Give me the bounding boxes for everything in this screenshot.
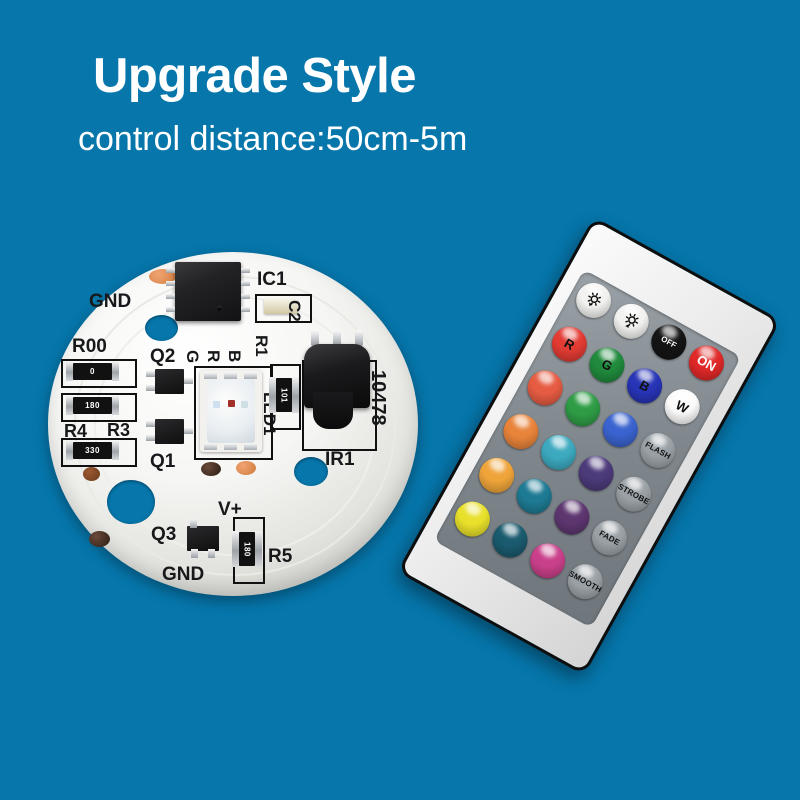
silkscreen-ic1: IC1 <box>257 270 287 289</box>
led1-rgb-emitter <box>200 370 262 452</box>
remote-key-label: FLASH <box>644 440 673 461</box>
ic-pin <box>166 268 175 273</box>
silkscreen-gnd-bottom: GND <box>162 565 204 584</box>
led-pad <box>204 443 217 450</box>
led-pad <box>244 443 257 450</box>
solder-pad <box>83 467 100 481</box>
silkscreen-led-pin-r: R <box>205 350 222 362</box>
remote-key-brightness-down[interactable] <box>607 298 655 346</box>
sot-leg <box>146 371 155 377</box>
ic-pin1-marker <box>217 306 222 311</box>
ic-pin <box>166 294 175 299</box>
resistor-r5: 180 <box>239 532 255 566</box>
brightness-up-icon <box>582 289 605 312</box>
sot-leg <box>184 378 193 384</box>
pcb-board-marking: 10478 <box>368 370 388 426</box>
sot-leg <box>146 435 155 441</box>
remote-key-label: W <box>673 397 691 416</box>
silkscreen-r00: R00 <box>72 337 107 356</box>
solder-pad <box>236 461 256 475</box>
sot-leg <box>208 549 215 558</box>
solder-pad <box>201 462 221 476</box>
ic1-chip <box>175 262 241 321</box>
silkscreen-q3: Q3 <box>151 525 176 544</box>
led-lens <box>207 379 255 443</box>
led-pad <box>224 372 237 379</box>
mounting-hole <box>294 457 328 486</box>
remote-key-label: B <box>637 377 652 395</box>
remote-key-color-2-2[interactable] <box>597 406 645 454</box>
silkscreen-gnd-top: GND <box>89 292 131 311</box>
ic-pin <box>241 294 250 299</box>
sot-leg <box>184 428 193 434</box>
led-pad <box>204 372 217 379</box>
silkscreen-c2: C2 <box>286 300 303 322</box>
led-pad <box>224 443 237 450</box>
remote-key-fade[interactable]: FADE <box>586 514 634 562</box>
silkscreen-r3: R3 <box>107 421 130 439</box>
remote-key-strobe[interactable]: STROBE <box>610 470 658 518</box>
remote-key-w[interactable]: W <box>658 383 706 431</box>
silkscreen-led-pin-b: B <box>226 350 243 362</box>
sot-leg <box>190 519 197 528</box>
ir-lens <box>313 392 353 429</box>
remote-key-color-5-1[interactable] <box>486 516 534 564</box>
remote-key-label: STROBE <box>616 482 651 507</box>
brightness-down-icon <box>620 310 643 333</box>
ic-pin <box>241 307 250 312</box>
remote-control-area: OFFONRGBWFLASHSTROBEFADESMOOTH <box>430 225 770 665</box>
ir1-receiver <box>304 344 370 448</box>
transistor-q3 <box>187 526 219 551</box>
sot-leg <box>146 385 155 391</box>
remote-key-color-4-0[interactable] <box>473 452 521 500</box>
silkscreen-q1: Q1 <box>150 452 175 471</box>
silkscreen-led-pin-g: G <box>184 350 201 363</box>
remote-key-g[interactable]: G <box>583 341 631 389</box>
remote-key-color-5-0[interactable] <box>449 495 497 543</box>
ic-pin <box>241 281 250 286</box>
remote-key-color-3-1[interactable] <box>535 429 583 477</box>
remote-key-off[interactable]: OFF <box>645 318 693 366</box>
ir-remote-control: OFFONRGBWFLASHSTROBEFADESMOOTH <box>397 217 781 676</box>
resistor-r4: 330 <box>73 442 112 459</box>
ic-pin <box>241 268 250 273</box>
remote-keypad: OFFONRGBWFLASHSTROBEFADESMOOTH <box>434 269 742 627</box>
remote-key-color-2-1[interactable] <box>559 385 607 433</box>
led-die-green <box>241 401 248 408</box>
remote-key-label: FADE <box>598 529 622 548</box>
mounting-hole <box>145 315 178 341</box>
remote-key-label: OFF <box>659 334 678 350</box>
led-pcb-module: GND IC1 C2 R00 0 180 <box>48 252 418 596</box>
silkscreen-r1: R1 <box>253 335 270 357</box>
remote-key-brightness-up[interactable] <box>570 277 618 325</box>
resistor-r3: 180 <box>73 397 112 414</box>
remote-key-smooth[interactable]: SMOOTH <box>561 558 609 606</box>
remote-key-label: R <box>562 335 577 353</box>
remote-key-flash[interactable]: FLASH <box>634 427 682 475</box>
remote-key-color-3-2[interactable] <box>572 450 620 498</box>
mounting-hole <box>107 480 155 524</box>
remote-key-color-4-2[interactable] <box>548 493 596 541</box>
led-die-red <box>228 400 235 407</box>
ic-pin <box>166 307 175 312</box>
resistor-r1: 101 <box>276 378 292 412</box>
remote-key-label: ON <box>694 352 718 375</box>
transistor-q2 <box>155 369 184 394</box>
silkscreen-ir1: IR1 <box>325 450 355 469</box>
remote-key-r[interactable]: R <box>546 320 594 368</box>
led-die-blue <box>213 401 220 408</box>
remote-key-label: SMOOTH <box>567 569 603 594</box>
sot-leg <box>146 421 155 427</box>
led-pad <box>244 372 257 379</box>
remote-key-label: G <box>599 356 615 374</box>
remote-key-color-3-0[interactable] <box>497 408 545 456</box>
remote-key-color-4-1[interactable] <box>510 472 558 520</box>
page-title: Upgrade Style <box>93 52 416 101</box>
sot-leg <box>191 549 198 558</box>
resistor-r00: 0 <box>73 363 112 380</box>
page-subtitle: control distance:50cm-5m <box>78 122 467 156</box>
silkscreen-q2: Q2 <box>150 347 175 366</box>
remote-key-color-2-0[interactable] <box>521 364 569 412</box>
product-image-canvas: Upgrade Style control distance:50cm-5m G… <box>0 0 800 800</box>
remote-key-b[interactable]: B <box>621 362 669 410</box>
remote-key-on[interactable]: ON <box>683 339 731 387</box>
ic-pin <box>166 281 175 286</box>
solder-pad <box>89 531 110 547</box>
silkscreen-r5: R5 <box>268 547 292 566</box>
transistor-q1 <box>155 419 184 444</box>
remote-key-color-5-2[interactable] <box>524 537 572 585</box>
